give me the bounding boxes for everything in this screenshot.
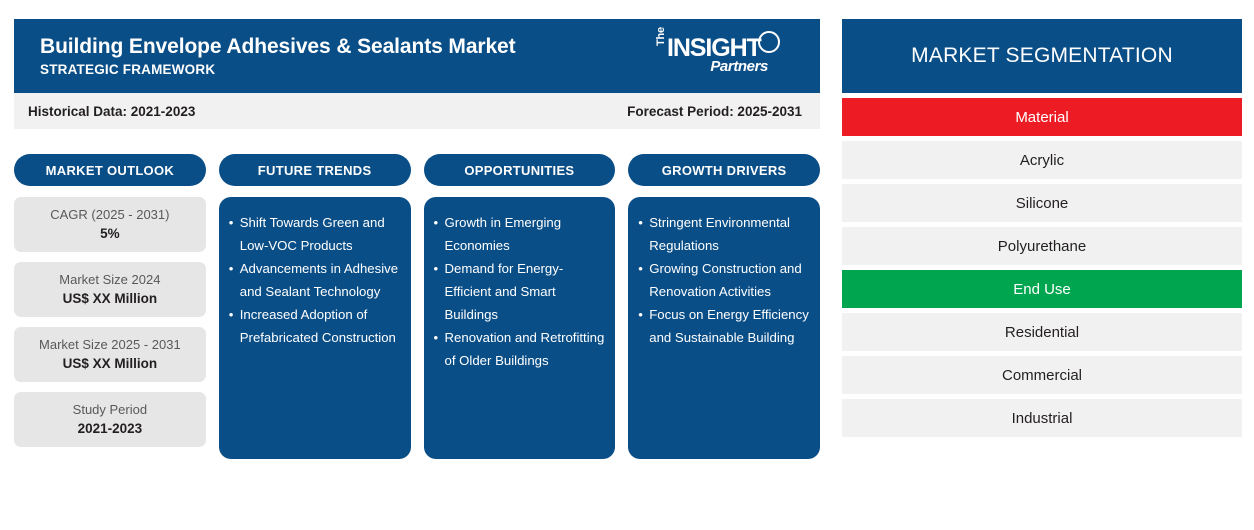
stat-card-list: CAGR (2025 - 2031) 5% Market Size 2024 U… [14, 197, 206, 447]
stat-card-cagr: CAGR (2025 - 2031) 5% [14, 197, 206, 252]
strategic-framework-panel: Building Envelope Adhesives & Sealants M… [14, 19, 820, 459]
stat-value: US$ XX Million [63, 289, 158, 308]
insight-partners-logo: The INSIGHT Partners [654, 30, 782, 82]
list-item: Focus on Energy Efficiency and Sustainab… [638, 303, 810, 349]
bullet-card-future-trends: Shift Towards Green and Low-VOC Products… [219, 197, 411, 459]
market-segmentation-panel: MARKET SEGMENTATION Material Acrylic Sil… [842, 19, 1242, 437]
stat-label: Market Size 2025 - 2031 [39, 336, 181, 354]
stat-label: Study Period [73, 401, 147, 419]
list-item: Growing Construction and Renovation Acti… [638, 257, 810, 303]
page-subtitle: STRATEGIC FRAMEWORK [40, 61, 516, 79]
stat-label: CAGR (2025 - 2031) [50, 206, 169, 224]
column-opportunities: OPPORTUNITIES Growth in Emerging Economi… [424, 154, 616, 459]
logo-the-text: The [656, 27, 667, 46]
list-item: Advancements in Adhesive and Sealant Tec… [229, 257, 401, 303]
segmentation-group-material: Material Acrylic Silicone Polyurethane [842, 98, 1242, 265]
header-titles: Building Envelope Adhesives & Sealants M… [40, 34, 516, 79]
page-title: Building Envelope Adhesives & Sealants M… [40, 34, 516, 60]
list-item: Increased Adoption of Prefabricated Cons… [229, 303, 401, 349]
segmentation-item-silicone: Silicone [842, 184, 1242, 222]
bullet-card-opportunities: Growth in Emerging Economies Demand for … [424, 197, 616, 459]
bullet-list: Stringent Environmental Regulations Grow… [638, 211, 810, 349]
historical-data-label: Historical Data: 2021-2023 [28, 104, 195, 119]
bullet-list: Shift Towards Green and Low-VOC Products… [229, 211, 401, 349]
segmentation-item-residential: Residential [842, 313, 1242, 351]
stat-value: US$ XX Million [63, 354, 158, 373]
stat-value: 5% [100, 224, 120, 243]
header-bar: Building Envelope Adhesives & Sealants M… [14, 19, 820, 93]
segmentation-item-commercial: Commercial [842, 356, 1242, 394]
segmentation-title: MARKET SEGMENTATION [842, 19, 1242, 93]
list-item: Demand for Energy-Efficient and Smart Bu… [434, 257, 606, 326]
column-future-trends: FUTURE TRENDS Shift Towards Green and Lo… [219, 154, 411, 459]
column-heading-future-trends: FUTURE TRENDS [219, 154, 411, 186]
column-heading-market-outlook: MARKET OUTLOOK [14, 154, 206, 186]
column-heading-growth-drivers: GROWTH DRIVERS [628, 154, 820, 186]
column-growth-drivers: GROWTH DRIVERS Stringent Environmental R… [628, 154, 820, 459]
bullet-card-growth-drivers: Stringent Environmental Regulations Grow… [628, 197, 820, 459]
segmentation-group-title-end-use: End Use [842, 270, 1242, 308]
logo-partners-text: Partners [710, 59, 768, 75]
bullet-list: Growth in Emerging Economies Demand for … [434, 211, 606, 372]
speech-bubble-icon [758, 31, 780, 53]
stat-value: 2021-2023 [78, 419, 143, 438]
segmentation-group-end-use: End Use Residential Commercial Industria… [842, 270, 1242, 437]
list-item: Shift Towards Green and Low-VOC Products [229, 211, 401, 257]
forecast-period-label: Forecast Period: 2025-2031 [627, 104, 802, 119]
period-bar: Historical Data: 2021-2023 Forecast Peri… [14, 93, 820, 129]
stat-label: Market Size 2024 [59, 271, 160, 289]
list-item: Renovation and Retrofitting of Older Bui… [434, 326, 606, 372]
segmentation-group-title-material: Material [842, 98, 1242, 136]
stat-card-study-period: Study Period 2021-2023 [14, 392, 206, 447]
stat-card-market-size-forecast: Market Size 2025 - 2031 US$ XX Million [14, 327, 206, 382]
stat-card-market-size-2024: Market Size 2024 US$ XX Million [14, 262, 206, 317]
list-item: Growth in Emerging Economies [434, 211, 606, 257]
segmentation-item-industrial: Industrial [842, 399, 1242, 437]
segmentation-item-polyurethane: Polyurethane [842, 227, 1242, 265]
column-market-outlook: MARKET OUTLOOK CAGR (2025 - 2031) 5% Mar… [14, 154, 206, 459]
list-item: Stringent Environmental Regulations [638, 211, 810, 257]
segmentation-item-acrylic: Acrylic [842, 141, 1242, 179]
framework-columns: MARKET OUTLOOK CAGR (2025 - 2031) 5% Mar… [14, 154, 820, 459]
column-heading-opportunities: OPPORTUNITIES [424, 154, 616, 186]
